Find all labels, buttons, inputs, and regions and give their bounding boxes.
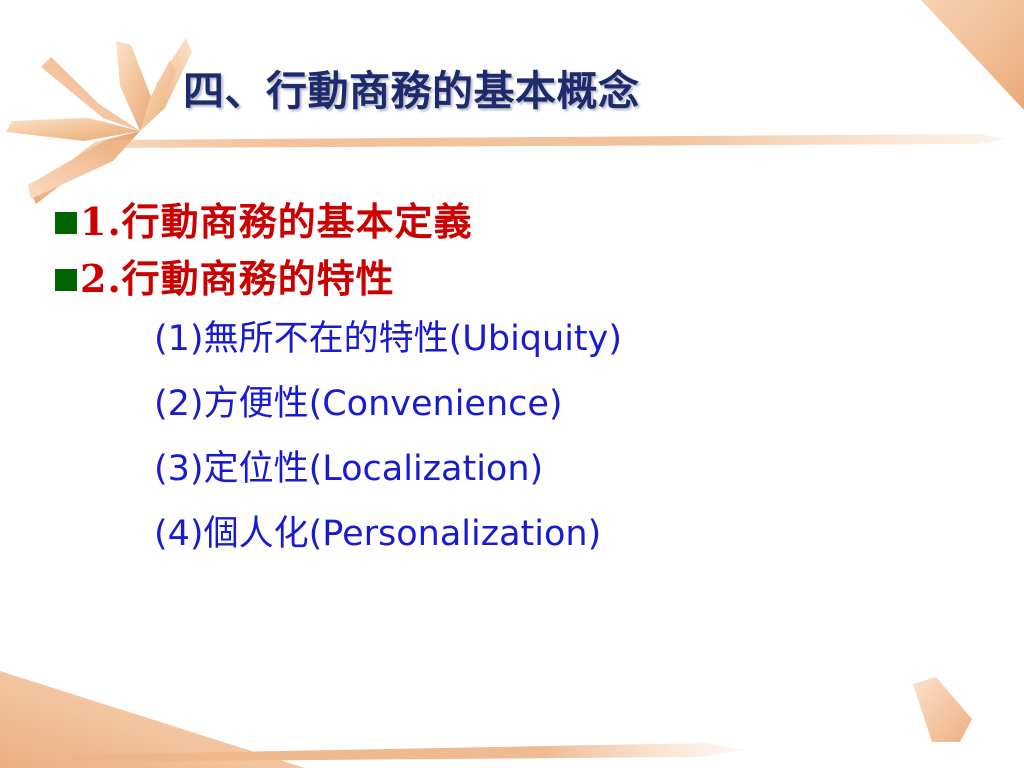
list-item-label: 1.行動商務的基本定義 xyxy=(80,203,473,241)
list-item[interactable]: 1.行動商務的基本定義 xyxy=(55,193,955,250)
starburst-ornament xyxy=(6,38,192,204)
list-item[interactable]: (2)方便性(Convenience) xyxy=(55,372,955,437)
starburst-petal xyxy=(28,131,140,199)
list-item-label: (1)無所不在的特性(Ubiquity) xyxy=(154,322,622,357)
starburst-petal xyxy=(6,118,140,141)
green-square-bullet-icon xyxy=(55,212,77,234)
green-square-bullet-icon xyxy=(55,269,77,291)
list-item-label: (3)定位性(Localization) xyxy=(154,452,543,487)
list-item[interactable]: (1)無所不在的特性(Ubiquity) xyxy=(55,307,955,372)
corner-triangle-top-right xyxy=(921,0,1024,110)
list-item[interactable]: (4)個人化(Personalization) xyxy=(55,502,955,567)
list-item-label: (2)方便性(Convenience) xyxy=(154,387,563,422)
footer-wedge xyxy=(70,743,745,762)
page-title: 四、行動商務的基本概念 xyxy=(183,70,883,113)
starburst-petal xyxy=(140,60,176,131)
list-item[interactable]: 2.行動商務的特性 xyxy=(55,250,955,307)
starburst-petal xyxy=(116,41,152,131)
content-list: 1.行動商務的基本定義 2.行動商務的特性 (1)無所不在的特性(Ubiquit… xyxy=(55,193,955,567)
list-item-label: (4)個人化(Personalization) xyxy=(154,517,601,552)
list-item-label: 2.行動商務的特性 xyxy=(80,260,395,298)
title-underline-wedge xyxy=(112,134,1005,148)
title-block: 四、行動商務的基本概念 xyxy=(183,70,883,130)
slide-canvas: 四、行動商務的基本概念 1.行動商務的基本定義 2.行動商務的特性 (1)無所不… xyxy=(0,0,1024,768)
list-item[interactable]: (3)定位性(Localization) xyxy=(55,437,955,502)
corner-lozenge-bottom-right xyxy=(913,677,972,742)
corner-triangle-bottom-left xyxy=(0,671,305,768)
starburst-petal xyxy=(41,57,140,131)
